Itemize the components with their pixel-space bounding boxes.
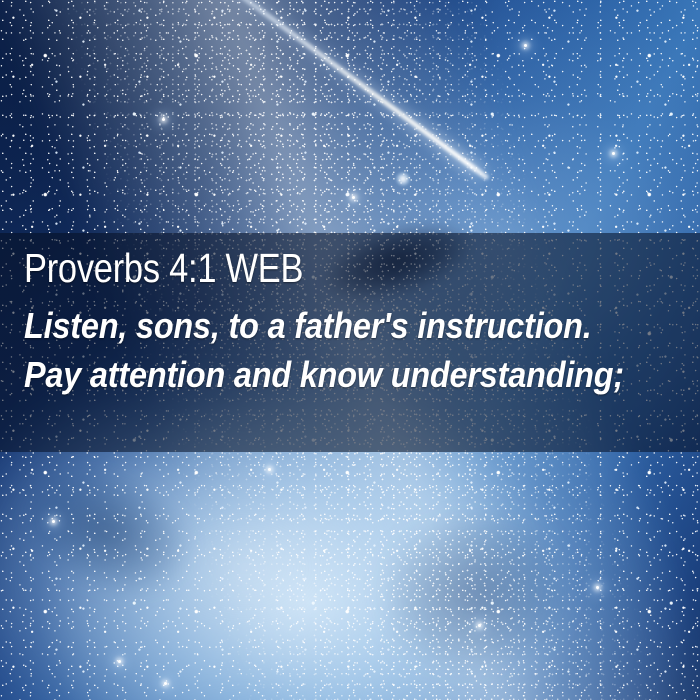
bright-star: [524, 44, 527, 47]
verse-image-canvas: Proverbs 4:1 WEB Listen, sons, to a fath…: [0, 0, 700, 700]
bright-star: [162, 118, 165, 121]
dust-lane-lower-center: [375, 506, 574, 680]
bright-star: [268, 468, 271, 471]
bright-star: [352, 196, 355, 199]
bright-star: [118, 660, 121, 663]
bright-star: [478, 624, 481, 627]
verse-text: Listen, sons, to a father's instruction.…: [24, 301, 624, 399]
verse-text-line-1: Listen, sons, to a father's instruction.: [24, 301, 624, 350]
bright-star: [52, 520, 55, 523]
bright-star: [612, 152, 615, 155]
bright-star: [164, 682, 167, 685]
bright-star: [596, 586, 599, 589]
verse-text-line-2: Pay attention and know understanding;: [24, 350, 624, 399]
verse-reference: Proverbs 4:1 WEB: [24, 247, 303, 290]
